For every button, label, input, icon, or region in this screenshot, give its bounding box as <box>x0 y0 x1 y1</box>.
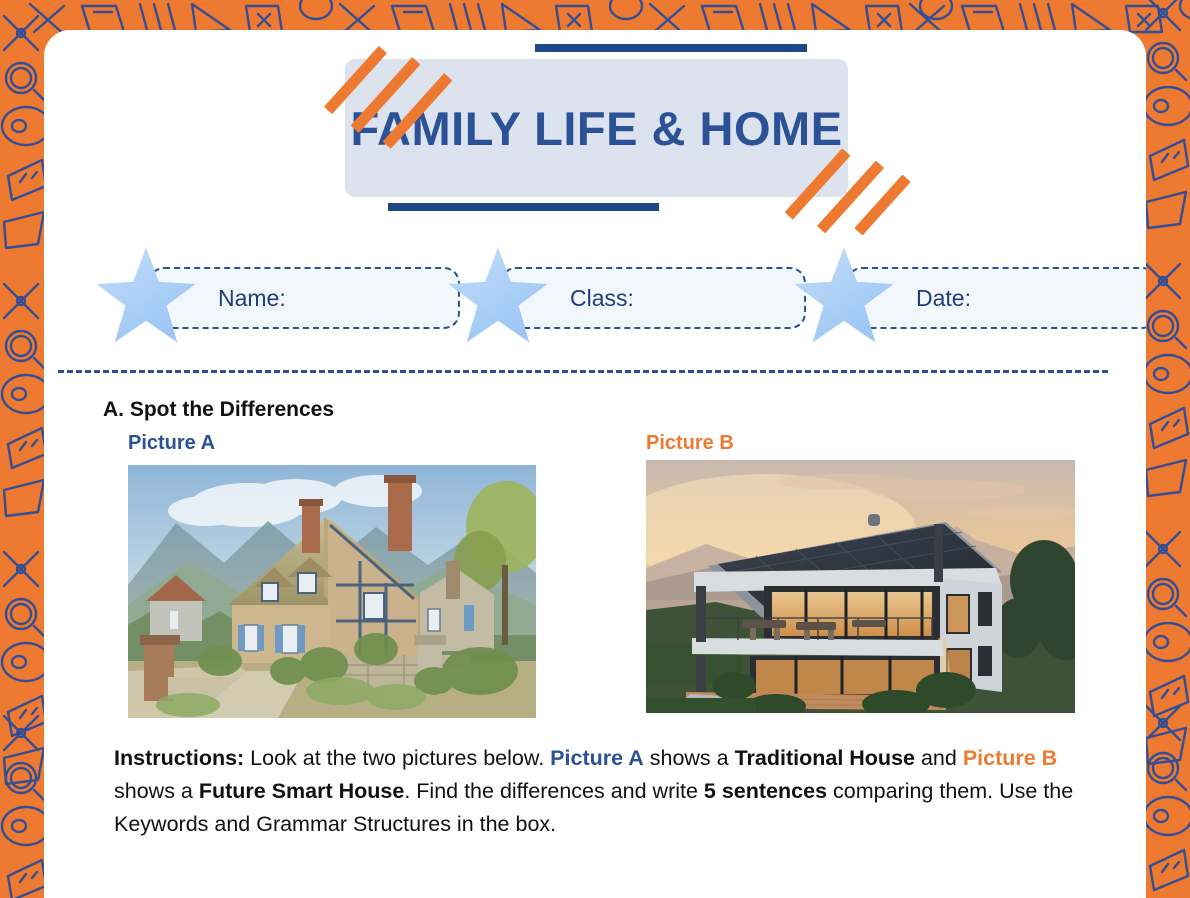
class-field-label: Class: <box>570 267 634 329</box>
star-icon <box>788 243 900 351</box>
star-icon <box>442 243 554 351</box>
date-field-label: Date: <box>916 267 971 329</box>
picture-a-label: Picture A <box>128 432 536 455</box>
title-rule-top <box>535 44 807 52</box>
instructions-text: Instructions: Look at the two pictures b… <box>114 742 1119 841</box>
name-field[interactable]: Name: <box>148 267 460 329</box>
instructions-picture-a: Picture A <box>550 746 644 770</box>
instructions-part-1: Look at the two pictures below. <box>244 746 550 770</box>
instructions-lead: Instructions: <box>114 746 244 770</box>
class-field[interactable]: Class: <box>500 267 806 329</box>
name-field-label: Name: <box>218 267 286 329</box>
title-rule-bottom <box>388 203 659 211</box>
section-divider <box>58 370 1108 373</box>
star-icon <box>90 243 202 351</box>
picture-b-block: Picture B <box>646 432 1075 713</box>
picture-b-image <box>646 460 1075 713</box>
worksheet-page: FAMILY LIFE & HOME <box>0 0 1190 898</box>
student-info-row: Name: Class: <box>44 249 1146 364</box>
picture-a-block: Picture A <box>128 432 536 718</box>
instructions-count: 5 sentences <box>704 779 827 803</box>
picture-b-label: Picture B <box>646 432 1075 455</box>
instructions-picture-b: Picture B <box>963 746 1057 770</box>
instructions-part-2: shows a <box>644 746 735 770</box>
worksheet-card: FAMILY LIFE & HOME <box>44 30 1146 898</box>
page-title: FAMILY LIFE & HOME <box>345 59 848 197</box>
picture-comparison: Picture A <box>103 432 1146 715</box>
section-heading: A. Spot the Differences <box>103 398 1146 422</box>
instructions-house-b: Future Smart House <box>199 779 404 803</box>
instructions-part-4: shows a <box>114 779 199 803</box>
picture-a-image <box>128 465 536 718</box>
worksheet-header: FAMILY LIFE & HOME <box>44 30 1146 225</box>
instructions-house-a: Traditional House <box>735 746 915 770</box>
instructions-part-5: . Find the differences and write <box>404 779 704 803</box>
worksheet-content: A. Spot the Differences Picture A <box>44 398 1146 841</box>
date-field[interactable]: Date: <box>846 267 1146 329</box>
instructions-part-3: and <box>915 746 963 770</box>
